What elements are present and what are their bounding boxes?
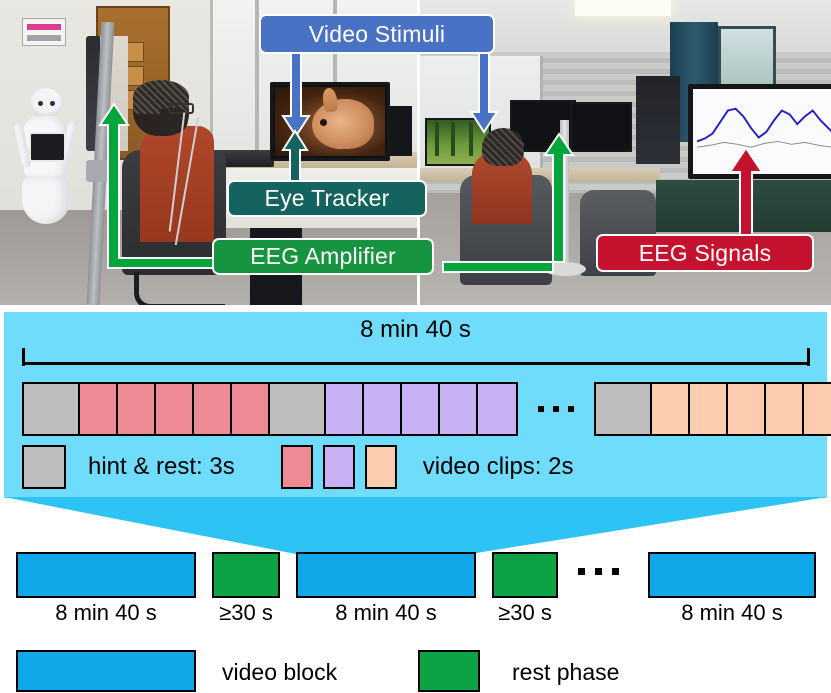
ellipsis-dot: [568, 406, 574, 412]
session-block-rest: [212, 552, 280, 598]
pepper-robot: [18, 88, 74, 228]
session-structure-row: 8 min 40 s ≥30 s 8 min 40 s ≥30 s 8 min …: [0, 552, 831, 693]
timeline-group-2: [594, 382, 831, 436]
legend-swatch-clip-a: [281, 445, 313, 489]
dual-monitor-right: [570, 102, 632, 152]
participant-body: [140, 126, 214, 242]
stand-base: [544, 262, 586, 276]
session-legend: video block rest phase: [0, 648, 831, 693]
timeline-group-1: [22, 382, 518, 436]
legend-swatch-hint: [22, 445, 66, 489]
timeline-cell-clip: [156, 384, 194, 434]
funnel-connector: [0, 497, 831, 557]
amplifier-stand: [560, 120, 569, 270]
timeline-cell-clip: [804, 384, 831, 434]
timeline-cell-hint: [24, 384, 80, 434]
block-duration-title: 8 min 40 s: [4, 316, 827, 344]
robot-tablet: [29, 132, 66, 162]
timeline-ellipsis: [518, 382, 594, 436]
session-block-label: 8 min 40 s: [16, 600, 196, 626]
session-block-label: 8 min 40 s: [648, 600, 816, 626]
callout-eeg-amplifier: EEG Amplifier: [212, 238, 434, 275]
timeline-cell-clip: [194, 384, 232, 434]
legend-label-video-block: video block: [222, 659, 337, 686]
timeline-cell-clip: [652, 384, 690, 434]
timeline-cell-clip: [80, 384, 118, 434]
timeline-cell-clip: [364, 384, 402, 434]
callout-eye-tracker: Eye Tracker: [227, 180, 427, 217]
legend-label-hint: hint & rest: 3s: [88, 453, 235, 481]
ellipsis-dot: [553, 406, 559, 412]
robot-base: [22, 176, 70, 224]
callout-eye-tracker-label: Eye Tracker: [265, 187, 390, 210]
timeline-cell-clip: [440, 384, 478, 434]
robot-head: [30, 88, 62, 118]
timeline-cell-hint: [270, 384, 326, 434]
callout-eeg-signals: EEG Signals: [596, 234, 814, 272]
legend-label-clips: video clips: 2s: [423, 453, 574, 481]
rabbit-video-frame: [275, 87, 385, 156]
block-panel-legend: hint & rest: 3s video clips: 2s: [22, 444, 573, 490]
callout-eeg-signals-label: EEG Signals: [639, 242, 772, 265]
eyeglasses: [168, 103, 194, 114]
session-block-video: [16, 552, 196, 598]
callout-video-stimuli-label: Video Stimuli: [309, 23, 445, 46]
trial-timeline: [22, 382, 831, 436]
desk-right: [656, 180, 831, 232]
bracket-tick-left: [22, 348, 25, 366]
timeline-cell-clip: [478, 384, 516, 434]
ceiling-light: [575, 0, 671, 16]
server-rack: [636, 76, 680, 164]
block-structure-panel: 8 min 40 s: [4, 312, 827, 498]
chair-base: [134, 272, 225, 305]
stimulus-monitor: [270, 82, 390, 161]
timeline-cell-clip: [690, 384, 728, 434]
session-block-video: [296, 552, 476, 598]
session-block-video: [648, 552, 816, 598]
session-block-label: ≥30 s: [484, 600, 566, 626]
timeline-cell-clip: [118, 384, 156, 434]
bracket-tick-right: [807, 348, 810, 366]
timeline-cell-clip: [402, 384, 440, 434]
callout-eeg-amplifier-label: EEG Amplifier: [250, 245, 396, 268]
legend-swatch-clip-c: [365, 445, 397, 489]
legend-swatch-rest-phase: [418, 650, 480, 692]
participant-head-eeg-cap: [482, 128, 524, 166]
timeline-cell-clip: [766, 384, 804, 434]
rabbit: [312, 99, 374, 149]
session-block-label: 8 min 40 s: [296, 600, 476, 626]
ellipsis-dot: [595, 568, 602, 575]
timeline-cell-clip: [326, 384, 364, 434]
ellipsis-dot: [538, 406, 544, 412]
callout-video-stimuli: Video Stimuli: [259, 14, 495, 54]
legend-swatch-video-block: [16, 650, 196, 692]
session-block-label: ≥30 s: [204, 600, 288, 626]
ellipsis-dot: [612, 568, 619, 575]
pole-mount: [86, 160, 114, 182]
speaker: [388, 106, 412, 156]
session-block-rest: [492, 552, 558, 598]
timeline-cell-clip: [232, 384, 270, 434]
ellipsis-dot: [578, 568, 585, 575]
timeline-cell-hint: [596, 384, 652, 434]
legend-label-rest-phase: rest phase: [512, 659, 619, 686]
session-ellipsis: [578, 568, 619, 575]
eeg-waveform: [697, 99, 831, 153]
wall-notice: [22, 18, 66, 46]
legend-swatch-clip-b: [323, 445, 355, 489]
eeg-signal-display: [688, 84, 831, 179]
timeline-cell-clip: [728, 384, 766, 434]
bracket-line: [22, 362, 810, 365]
